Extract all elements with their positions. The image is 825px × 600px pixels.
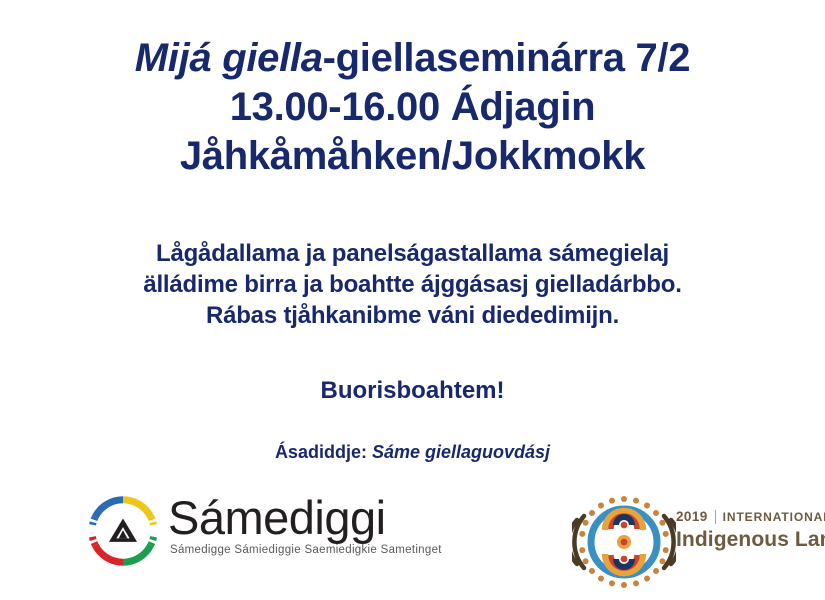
iyil-top-row: 2019 INTERNATIONAL YEAR O <box>676 508 825 525</box>
organizer-credit: Ásadiddje: Sáme giellaguovdásj <box>0 440 825 464</box>
iyil-2019-logo: 2019 INTERNATIONAL YEAR O Indigenous Lan… <box>572 492 825 592</box>
samediggi-wordmark: Sámediggi <box>168 490 386 546</box>
iyil-2019-text: 2019 INTERNATIONAL YEAR O Indigenous Lan… <box>676 508 825 552</box>
poster-body: Lågådallama ja panelságastallama sámegie… <box>0 238 825 331</box>
samediggi-languages-subtitle: Sámedigge Sámiediggie Saemiedigkie Samet… <box>170 544 442 556</box>
title-line-3: Jåhkåmåhken/Jokkmokk <box>0 132 825 181</box>
iyil-main-title: Indigenous Language <box>676 528 825 552</box>
body-line-1: Lågådallama ja panelságastallama sámegie… <box>0 238 825 269</box>
organizer-name: Sáme giellaguovdásj <box>372 442 550 462</box>
iyil-caption: INTERNATIONAL YEAR O <box>723 510 825 524</box>
welcome-text: Buorisboahtem! <box>0 376 825 406</box>
title-line-1: Mijá giella-giellaseminárra 7/2 <box>0 34 825 83</box>
samediggi-logo: Sámediggi Sámedigge Sámiediggie Saemiedi… <box>84 490 404 570</box>
poster-title: Mijá giella-giellaseminárra 7/2 13.00-16… <box>0 34 825 181</box>
samediggi-ring-icon <box>84 492 162 570</box>
iyil-2019-emblem-icon <box>572 492 676 592</box>
iyil-divider <box>715 510 716 524</box>
poster-canvas: Mijá giella-giellaseminárra 7/2 13.00-16… <box>0 0 825 600</box>
organizer-label: Ásadiddje: <box>275 442 367 462</box>
body-line-3: Rábas tjåhkanibme váni diededimijn. <box>0 300 825 331</box>
iyil-year: 2019 <box>676 509 708 524</box>
title-line-1-rest: -giellaseminárra 7/2 <box>323 36 691 80</box>
title-line-2: 13.00-16.00 Ádjagin <box>0 83 825 132</box>
title-emphasis: Mijá giella <box>135 36 323 80</box>
body-line-2: älládime birra ja boahtte ájggásasj giel… <box>0 269 825 300</box>
